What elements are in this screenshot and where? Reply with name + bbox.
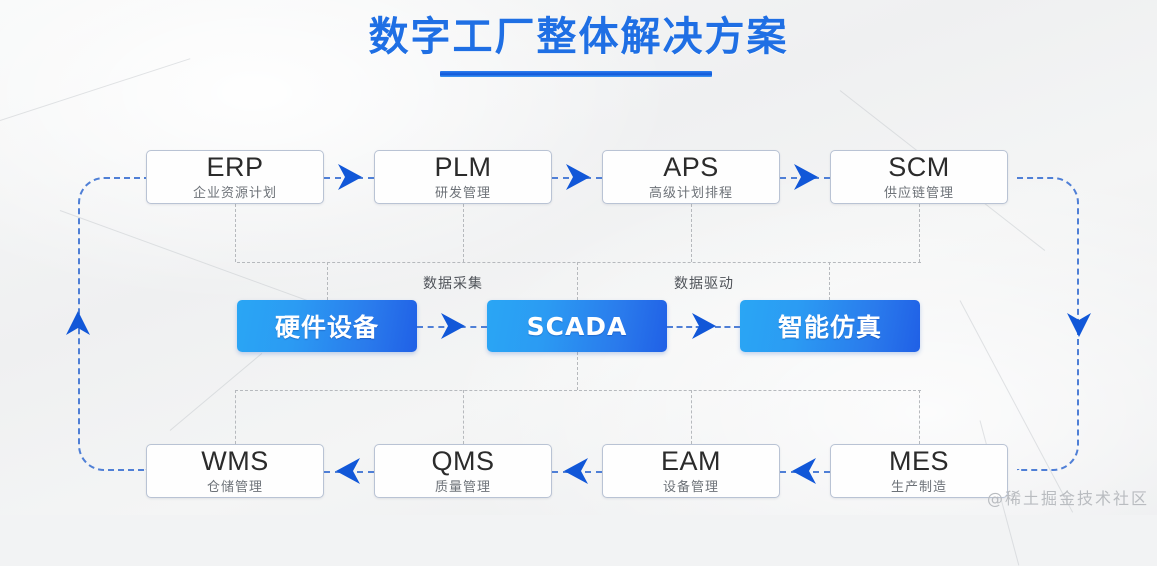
label-data-driven: 数据驱动 xyxy=(668,273,740,293)
node-code: APS xyxy=(663,153,719,181)
node-code: MES xyxy=(889,447,949,475)
node-code: PLM xyxy=(434,153,491,181)
node-subtitle: 设备管理 xyxy=(663,476,719,495)
connector-riser-hardware xyxy=(327,262,328,300)
node-aps[interactable]: APS 高级计划排程 xyxy=(602,150,780,204)
node-subtitle: 供应链管理 xyxy=(884,182,954,201)
connector-drop-plm xyxy=(463,204,464,262)
connector-bus-upper xyxy=(237,262,921,263)
node-wms[interactable]: WMS 仓储管理 xyxy=(146,444,324,498)
connector-riser-mes xyxy=(919,390,920,444)
node-code: 智能仿真 xyxy=(778,308,882,344)
connector-riser-eam xyxy=(691,390,692,444)
node-subtitle: 研发管理 xyxy=(435,182,491,201)
connector-riser-qms xyxy=(463,390,464,444)
background-vein xyxy=(0,58,190,121)
page-title: 数字工厂整体解决方案 xyxy=(369,4,789,62)
node-subtitle: 质量管理 xyxy=(435,476,491,495)
node-subtitle: 高级计划排程 xyxy=(649,182,733,201)
node-subtitle: 生产制造 xyxy=(891,476,947,495)
node-hardware[interactable]: 硬件设备 xyxy=(237,300,417,352)
node-erp[interactable]: ERP 企业资源计划 xyxy=(146,150,324,204)
node-plm[interactable]: PLM 研发管理 xyxy=(374,150,552,204)
node-code: QMS xyxy=(431,447,494,475)
label-data-acquisition: 数据采集 xyxy=(417,273,489,293)
node-scada[interactable]: SCADA xyxy=(487,300,667,352)
node-scm[interactable]: SCM 供应链管理 xyxy=(830,150,1008,204)
connector-drop-scada-bottom xyxy=(577,352,578,390)
connector-drop-erp xyxy=(235,204,236,262)
title-container: 数字工厂整体解决方案 xyxy=(0,4,1157,62)
watermark: @稀土掘金技术社区 xyxy=(987,485,1149,509)
connector-drop-aps xyxy=(691,204,692,262)
connector-drop-scm xyxy=(919,204,920,262)
node-code: SCM xyxy=(888,153,950,181)
diagram-canvas: 数字工厂整体解决方案 ERP 企业资源计划 PLM 研发管理 APS 高级计 xyxy=(0,0,1157,515)
node-subtitle: 仓储管理 xyxy=(207,476,263,495)
node-simulation[interactable]: 智能仿真 xyxy=(740,300,920,352)
node-code: ERP xyxy=(206,153,263,181)
node-mes[interactable]: MES 生产制造 xyxy=(830,444,1008,498)
node-code: EAM xyxy=(661,447,721,475)
connector-riser-wms xyxy=(235,390,236,444)
node-qms[interactable]: QMS 质量管理 xyxy=(374,444,552,498)
node-eam[interactable]: EAM 设备管理 xyxy=(602,444,780,498)
connector-riser-scada-top xyxy=(577,262,578,300)
node-code: SCADA xyxy=(527,312,628,341)
connector-bus-lower xyxy=(235,390,921,391)
connector-riser-simulation xyxy=(829,262,830,300)
background-vein xyxy=(170,353,263,431)
node-subtitle: 企业资源计划 xyxy=(193,182,277,201)
node-code: WMS xyxy=(201,447,268,475)
node-code: 硬件设备 xyxy=(275,308,379,344)
title-underline xyxy=(440,71,712,77)
